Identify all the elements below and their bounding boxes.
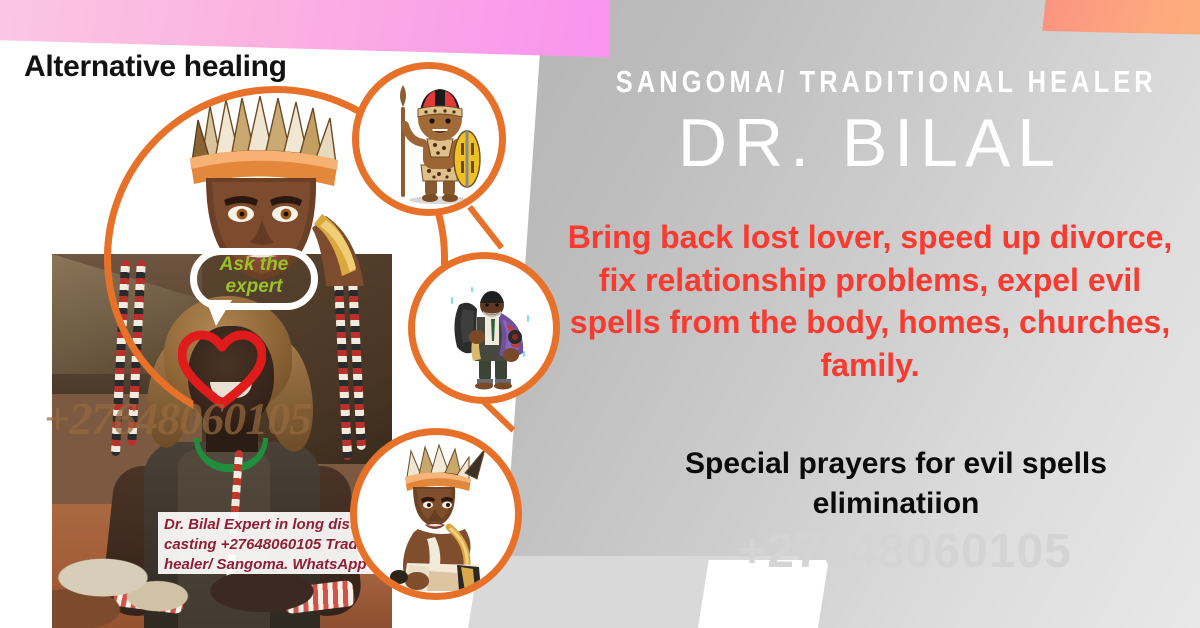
healer-in-coat-icon (441, 275, 541, 391)
phone-number-watermark: +27648060105 (620, 524, 1190, 579)
services-text: Bring back lost lover, speed up divorce,… (552, 216, 1188, 386)
circle-healer-in-coat (408, 252, 560, 404)
kicker-text: SANGOMA/ TRADITIONAL HEALER (616, 64, 1124, 100)
poster-canvas: Ask the expert +27648060105 Dr. Bilal Ex… (0, 0, 1200, 628)
speech-bubble-tail (206, 300, 232, 326)
crouching-warrior-icon (373, 443, 505, 591)
circle-cartoon-zulu-warrior (352, 62, 506, 216)
page-title: Alternative healing (24, 50, 287, 84)
circle-crouching-warrior (350, 428, 522, 600)
phone-watermark-photo: +27648060105 (44, 392, 444, 445)
special-offer-text: Special prayers for evil spells eliminat… (600, 444, 1192, 524)
cartoon-zulu-warrior-icon (387, 81, 483, 207)
doctor-name: DR. BILAL (560, 104, 1180, 182)
